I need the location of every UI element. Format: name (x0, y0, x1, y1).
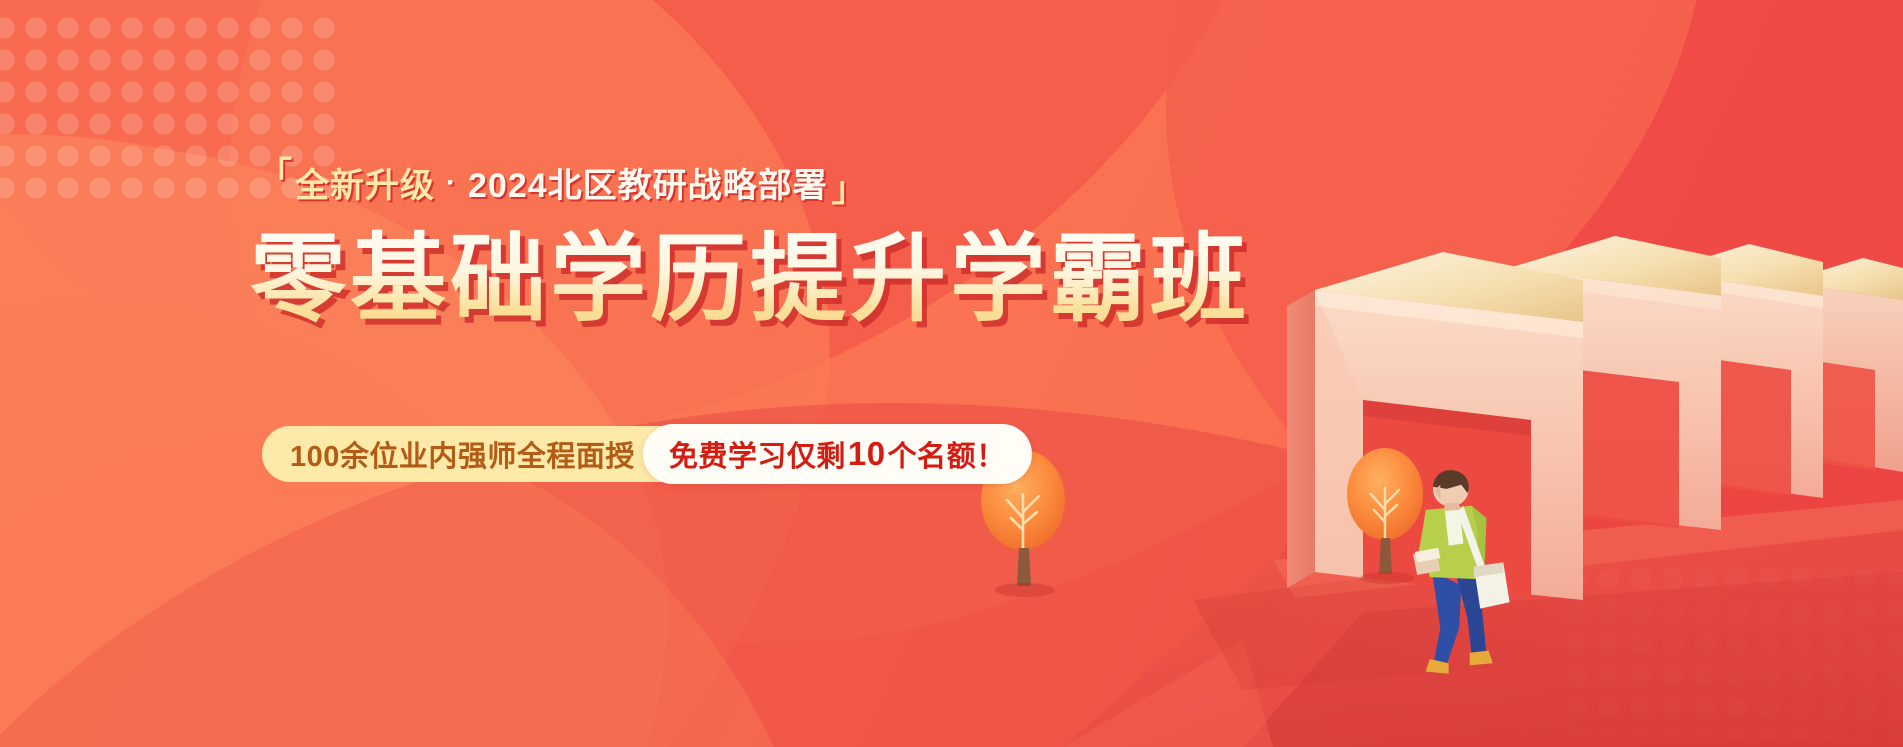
red-stage-platform (1063, 500, 1903, 747)
pill-teachers-label: 100余位业内强师全程面授 (290, 433, 635, 475)
bracket-close-icon: 」 (832, 173, 867, 207)
pill-seats-suffix: 个名额！ (888, 433, 1006, 475)
pill-seats-number: 10 (846, 435, 888, 473)
banner-illustration (943, 0, 1903, 747)
subtitle-rest: 2024北区教研战略部署 (468, 158, 828, 207)
banner-copy: 「 全新升级 · 2024北区教研战略部署 」 零基础学历提升学霸班 100余位… (0, 0, 1080, 747)
banner-pill-group: 100余位业内强师全程面授 免费学习仅剩10个名额！ (262, 424, 1032, 484)
background-wave-right-red-2 (1170, 189, 1903, 747)
pill-seats-badge[interactable]: 免费学习仅剩10个名额！ (643, 424, 1032, 484)
dot-pattern-bottom-right (1561, 563, 1903, 739)
pill-seats-prefix: 免费学习仅剩 (669, 433, 846, 475)
promo-banner: 「 全新升级 · 2024北区教研战略部署 」 零基础学历提升学霸班 100余位… (0, 0, 1903, 747)
student-with-shoulder-bag (1413, 470, 1510, 674)
subtitle-separator-dot: · (435, 166, 468, 200)
pill-teachers-badge: 100余位业内强师全程面授 (262, 426, 665, 482)
bracket-open-icon: 「 (258, 158, 293, 192)
subtitle-highlight: 全新升级 (295, 158, 435, 207)
isometric-book-arches (1287, 236, 1903, 600)
banner-headline: 零基础学历提升学霸班 (250, 228, 1250, 332)
banner-subtitle: 「 全新升级 · 2024北区教研战略部署 」 (258, 158, 867, 207)
background-wave-right-red (1014, 0, 1903, 747)
